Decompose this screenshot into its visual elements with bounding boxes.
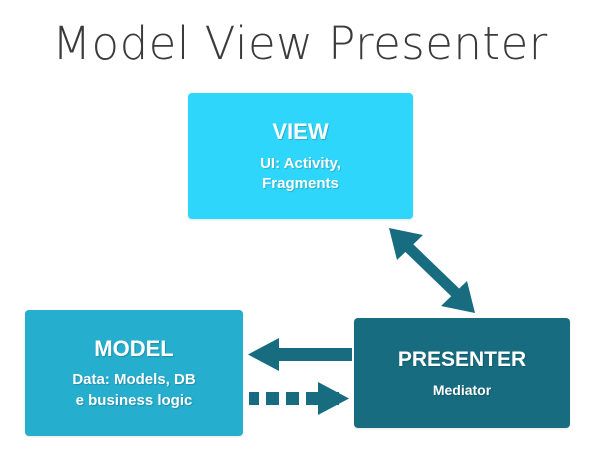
node-model-subtitle-line-1: Data: Models, DB — [72, 369, 195, 390]
node-view-subtitle-line-1: UI: Activity, — [260, 154, 341, 174]
node-view-subtitle-line-2: Fragments — [260, 174, 341, 194]
node-model[interactable]: MODEL Data: Models, DB e business logic — [25, 310, 243, 436]
connector-model-to-presenter-dash-3 — [286, 392, 299, 405]
node-model-subtitle: Data: Models, DB e business logic — [72, 369, 195, 411]
node-view-title: VIEW — [272, 119, 328, 145]
connector-presenter-to-model-arrow — [248, 338, 352, 371]
node-presenter-subtitle-line-1: Mediator — [433, 381, 491, 399]
node-presenter-subtitle: Mediator — [433, 381, 491, 399]
mvp-diagram: Model View Presenter VIEW UI: Activity, … — [0, 0, 600, 465]
connector-view-presenter-double-arrow — [389, 228, 475, 313]
node-model-subtitle-line-2: e business logic — [72, 390, 195, 411]
connector-model-to-presenter-dash-4 — [306, 392, 319, 405]
connector-model-to-presenter-dash-1 — [249, 392, 259, 405]
node-presenter[interactable]: PRESENTER Mediator — [354, 318, 570, 428]
connector-presenter-to-model-shaft — [277, 348, 352, 361]
connector-model-to-presenter-dash-2 — [266, 392, 279, 405]
connector-view-presenter-shaft — [404, 243, 460, 297]
node-view[interactable]: VIEW UI: Activity, Fragments — [188, 93, 413, 219]
page-title: Model View Presenter — [0, 16, 600, 72]
connector-view-presenter-head-presenter — [441, 281, 475, 313]
connector-model-to-presenter-head — [318, 382, 349, 415]
node-presenter-title: PRESENTER — [398, 347, 526, 372]
connector-model-to-presenter-dash-5 — [326, 392, 339, 405]
node-model-title: MODEL — [94, 336, 173, 362]
connector-model-to-presenter-arrow — [249, 382, 349, 415]
node-view-subtitle: UI: Activity, Fragments — [260, 154, 341, 194]
connector-view-presenter-head-view — [389, 228, 423, 260]
connector-presenter-to-model-head — [248, 338, 279, 371]
